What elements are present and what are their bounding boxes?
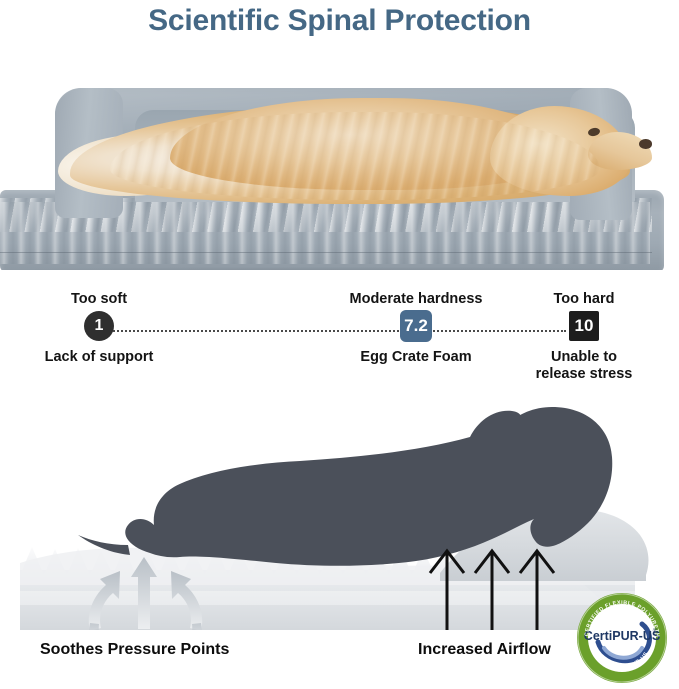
hardness-scale: Too soft 1 Lack of support Moderate hard… bbox=[0, 290, 679, 390]
scale-stop-top-label: Too soft bbox=[14, 290, 184, 308]
soothes-pressure-points-label: Soothes Pressure Points bbox=[40, 641, 229, 659]
scale-stop-bottom-label-line2: release stress bbox=[500, 366, 668, 383]
scale-stop-top-label: Moderate hardness bbox=[330, 290, 502, 308]
scale-stop-bottom-label-line1: Unable to bbox=[500, 349, 668, 366]
bed-drop-shadow bbox=[6, 267, 656, 270]
bed-base-seam bbox=[0, 252, 652, 253]
scale-stop-too-soft: Too soft 1 Lack of support bbox=[14, 290, 184, 366]
certipur-wordmark: CertiPUR-US bbox=[584, 629, 660, 643]
scale-stop-bottom-label: Lack of support bbox=[14, 349, 184, 366]
scale-stop-badge-row: 7.2 bbox=[330, 309, 502, 343]
scale-stop-badge-row: 10 bbox=[500, 309, 668, 343]
scale-stop-badge-row: 1 bbox=[14, 309, 184, 343]
product-photo bbox=[0, 62, 679, 270]
page-title: Scientific Spinal Protection bbox=[0, 2, 679, 40]
dog-muzzle bbox=[588, 132, 652, 170]
scale-stop-bottom-label: Egg Crate Foam bbox=[330, 349, 502, 366]
scale-stop-top-label: Too hard bbox=[500, 290, 668, 308]
scale-badge-10: 10 bbox=[569, 311, 599, 341]
certipur-us-badge: CertiPUR-US ® CONTAINS CERTIFIED FLEXIBL… bbox=[576, 592, 668, 684]
dog-nose bbox=[639, 139, 652, 149]
scale-badge-1: 1 bbox=[84, 311, 114, 341]
increased-airflow-label: Increased Airflow bbox=[418, 641, 551, 659]
scale-badge-7-2: 7.2 bbox=[400, 310, 432, 342]
scale-stop-moderate-hardness: Moderate hardness 7.2 Egg Crate Foam bbox=[330, 290, 502, 366]
scale-stop-too-hard: Too hard 10 Unable to release stress bbox=[500, 290, 668, 383]
